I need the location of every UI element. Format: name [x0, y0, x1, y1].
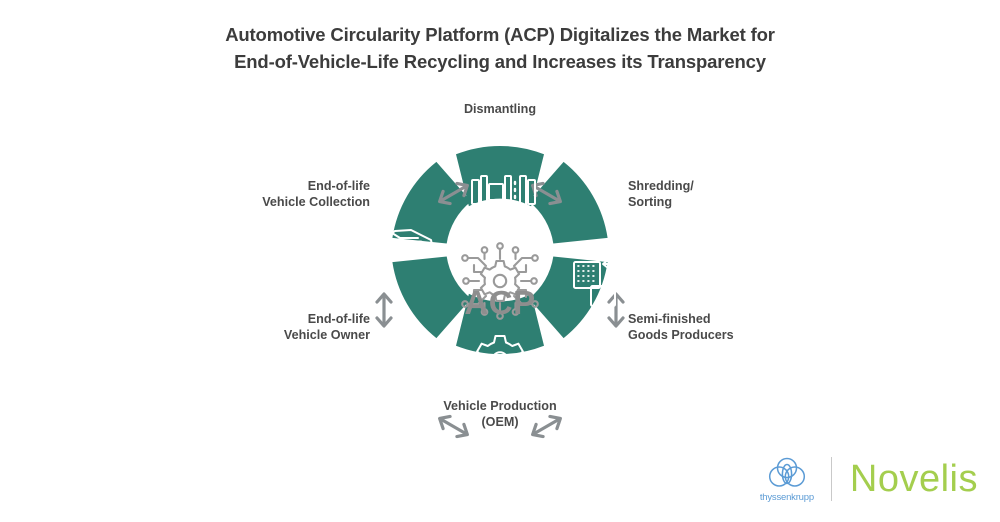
thyssenkrupp-wordmark: thyssenkrupp	[760, 492, 814, 503]
page-title: Automotive Circularity Platform (ACP) Di…	[0, 22, 1000, 76]
label-dismantling: Dismantling	[400, 102, 600, 118]
page-title-line-2: End-of-Vehicle-Life Recycling and Increa…	[0, 49, 1000, 76]
factory-icon	[572, 343, 620, 365]
segment-dismantling[interactable]	[456, 146, 544, 206]
label-production: Vehicle Production (OEM)	[385, 399, 615, 430]
label-shredding: Shredding/ Sorting	[628, 179, 798, 210]
label-collection: End-of-life Vehicle Collection	[190, 179, 370, 210]
wheel-graphic	[0, 84, 1000, 444]
arrow-owner-collection	[377, 294, 391, 326]
label-owner: End-of-life Vehicle Owner	[195, 312, 370, 343]
segment-shredding[interactable]	[529, 162, 608, 244]
thyssenkrupp-rings-icon	[766, 455, 808, 491]
label-semi-finished: Semi-finished Goods Producers	[628, 312, 818, 343]
logo-divider	[831, 457, 832, 501]
center-acp-label: ACP	[430, 284, 570, 322]
novelis-wordmark: Novelis	[850, 460, 978, 498]
footer-logos: thyssenkrupp Novelis	[751, 446, 978, 512]
person-icon	[394, 323, 414, 376]
thyssenkrupp-logo: thyssenkrupp	[751, 455, 823, 503]
circularity-wheel-diagram: ACP Dismantling Shredding/ Sorting Semi-…	[0, 84, 1000, 444]
page-title-line-1: Automotive Circularity Platform (ACP) Di…	[0, 22, 1000, 49]
